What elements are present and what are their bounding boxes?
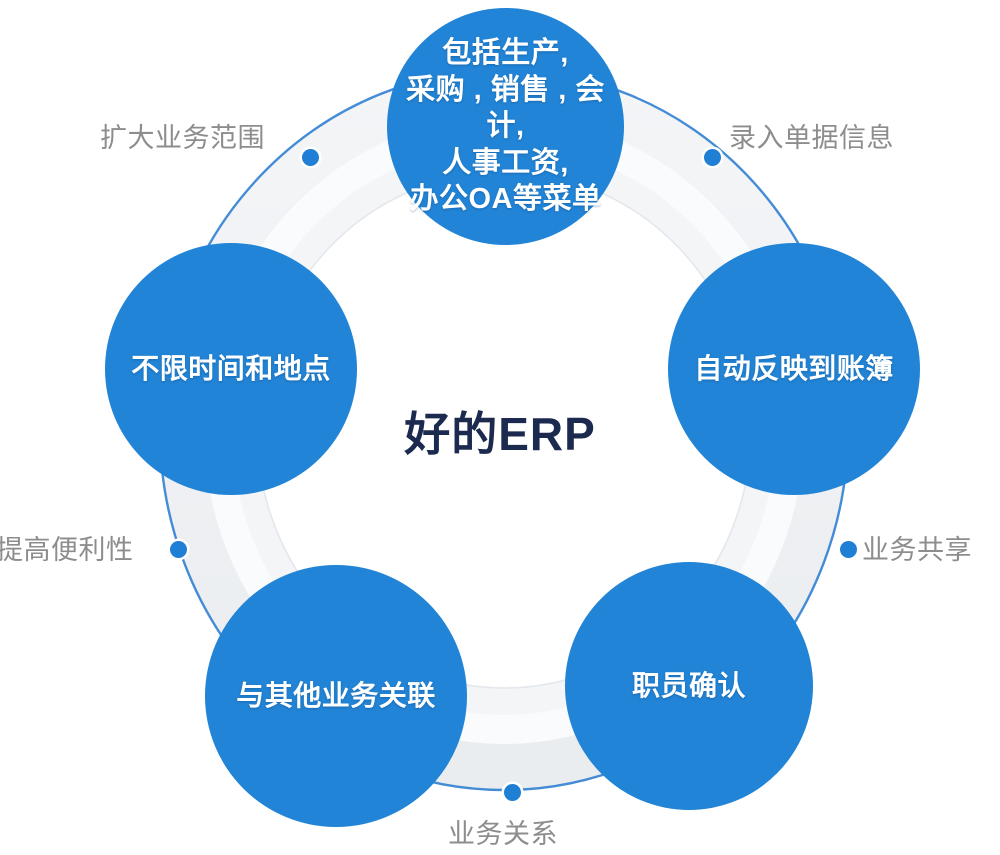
marker-dot-top-right[interactable]: [704, 149, 721, 166]
marker-dot-top-left[interactable]: [302, 149, 319, 166]
node-top-circle[interactable]: 包括生产, 采购 , 销售 , 会计, 人事工资, 办公OA等菜单: [387, 8, 624, 245]
node-left-circle[interactable]: 不限时间和地点: [105, 243, 357, 495]
node-right-circle[interactable]: 自动反映到账簿: [668, 243, 920, 495]
outer-label-expand-business-scope[interactable]: 扩大业务范围: [100, 116, 265, 155]
node-bottom-left-circle[interactable]: 与其他业务关联: [205, 565, 467, 827]
marker-dot-right[interactable]: [840, 541, 857, 558]
outer-label-improve-convenience[interactable]: 提高便利性: [0, 528, 134, 567]
marker-dot-left[interactable]: [170, 541, 187, 558]
node-bottom-left-label: 与其他业务关联: [230, 678, 442, 714]
marker-dot-bottom[interactable]: [504, 784, 521, 801]
node-bottom-right-circle[interactable]: 职员确认: [565, 562, 813, 810]
node-left-label: 不限时间和地点: [125, 351, 337, 387]
node-bottom-right-label: 职员确认: [626, 668, 752, 704]
outer-label-business-sharing[interactable]: 业务共享: [862, 528, 972, 567]
diagram-canvas: 好的ERP 包括生产, 采购 , 销售 , 会计, 人事工资, 办公OA等菜单 …: [0, 0, 1000, 855]
outer-label-enter-document-info[interactable]: 录入单据信息: [729, 116, 894, 155]
node-right-label: 自动反映到账簿: [688, 351, 900, 387]
node-top-label: 包括生产, 采购 , 销售 , 会计, 人事工资, 办公OA等菜单: [387, 35, 624, 218]
outer-label-business-relationship[interactable]: 业务关系: [448, 812, 558, 851]
